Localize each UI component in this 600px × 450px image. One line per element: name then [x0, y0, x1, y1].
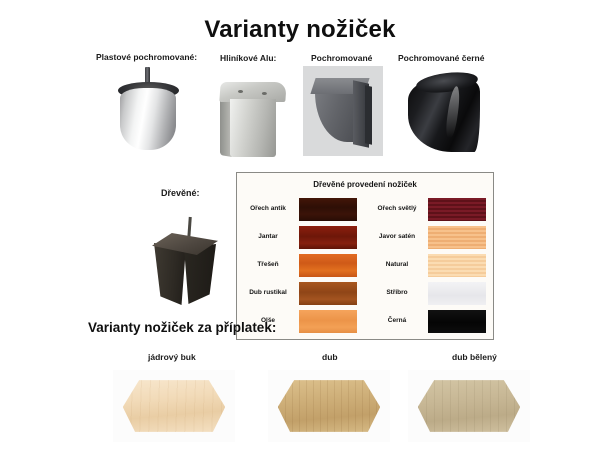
- caption-chromed-black: Pochromované černé: [398, 53, 484, 63]
- caption-plastic-chromed: Plastové pochromované:: [96, 52, 197, 62]
- finish-table-title: Dřevěné provedení nožiček: [237, 180, 493, 189]
- finish-name: Ořech antik: [237, 205, 299, 212]
- finish-name: Stříbro: [366, 289, 428, 296]
- finish-swatch-tresen: [299, 254, 357, 277]
- black-chromed-leg-photo: [396, 64, 496, 160]
- label-surcharge-variants: Varianty nožiček za příplatek:: [88, 320, 276, 335]
- chrome-plastic-leg-photo: [106, 66, 202, 162]
- label-wooden: Dřevěné:: [161, 188, 200, 198]
- beech-leg-photo: [113, 370, 235, 442]
- finish-row: Natural: [366, 251, 495, 279]
- finish-swatch-orech-svetly: [428, 198, 486, 221]
- finish-swatch-javor-saten: [428, 226, 486, 249]
- caption-chromed: Pochromované: [311, 53, 372, 63]
- wooden-finish-table: Dřevěné provedení nožiček Ořech antik Ja…: [236, 172, 494, 340]
- leg-body: [278, 380, 380, 432]
- finish-swatch-natural: [428, 254, 486, 277]
- dark-wooden-pyramid-leg-photo: [146, 213, 226, 309]
- finish-swatch-stribro: [428, 282, 486, 305]
- finish-swatch-olse: [299, 310, 357, 333]
- chromed-bracket-leg-photo: [303, 66, 383, 156]
- wood-grain: [278, 380, 380, 432]
- aluminium-leg-photo: [212, 66, 296, 162]
- finish-row: Jantar: [237, 223, 366, 251]
- finish-swatch-dub-rustikal: [299, 282, 357, 305]
- product-variants-page: Varianty nožiček Plastové pochromované: …: [0, 0, 600, 450]
- caption-bleached-oak: dub bělený: [452, 352, 497, 362]
- finish-name: Třešeň: [237, 261, 299, 268]
- finish-row: Dub rustikal: [237, 279, 366, 307]
- finish-row: Černá: [366, 307, 495, 335]
- finish-name: Jantar: [237, 233, 299, 240]
- leg-bolt: [187, 217, 192, 239]
- finish-name: Javor satén: [366, 233, 428, 240]
- finish-swatch-orech-antik: [299, 198, 357, 221]
- finish-name: Černá: [366, 317, 428, 324]
- caption-oak: dub: [322, 352, 338, 362]
- leg-front-face: [230, 99, 276, 157]
- finish-row: Třešeň: [237, 251, 366, 279]
- finish-swatch-cerna: [428, 310, 486, 333]
- finish-row: Stříbro: [366, 279, 495, 307]
- caption-beech: jádrový buk: [148, 352, 196, 362]
- finish-column-right: Ořech světlý Javor satén Natural Stříbro…: [366, 195, 495, 335]
- caption-aluminium: Hliníkové Alu:: [220, 53, 276, 63]
- wood-grain: [418, 380, 520, 432]
- page-title: Varianty nožiček: [0, 16, 600, 44]
- finish-row: Javor satén: [366, 223, 495, 251]
- leg-body: [120, 88, 176, 150]
- finish-row: Ořech světlý: [366, 195, 495, 223]
- screw-hole: [238, 90, 243, 93]
- leg-edge: [365, 85, 372, 144]
- screw-hole: [262, 92, 267, 95]
- finish-row: Ořech antik: [237, 195, 366, 223]
- bleached-oak-leg-photo: [408, 370, 530, 442]
- finish-name: Natural: [366, 261, 428, 268]
- finish-swatch-jantar: [299, 226, 357, 249]
- finish-column-left: Ořech antik Jantar Třešeň Dub rustikal O…: [237, 195, 366, 335]
- finish-name: Ořech světlý: [366, 205, 428, 212]
- leg-left-face: [154, 243, 186, 305]
- oak-leg-photo: [268, 370, 390, 442]
- leg-body: [123, 380, 225, 432]
- leg-body: [418, 380, 520, 432]
- finish-name: Dub rustikal: [237, 289, 299, 296]
- wood-grain: [123, 380, 225, 432]
